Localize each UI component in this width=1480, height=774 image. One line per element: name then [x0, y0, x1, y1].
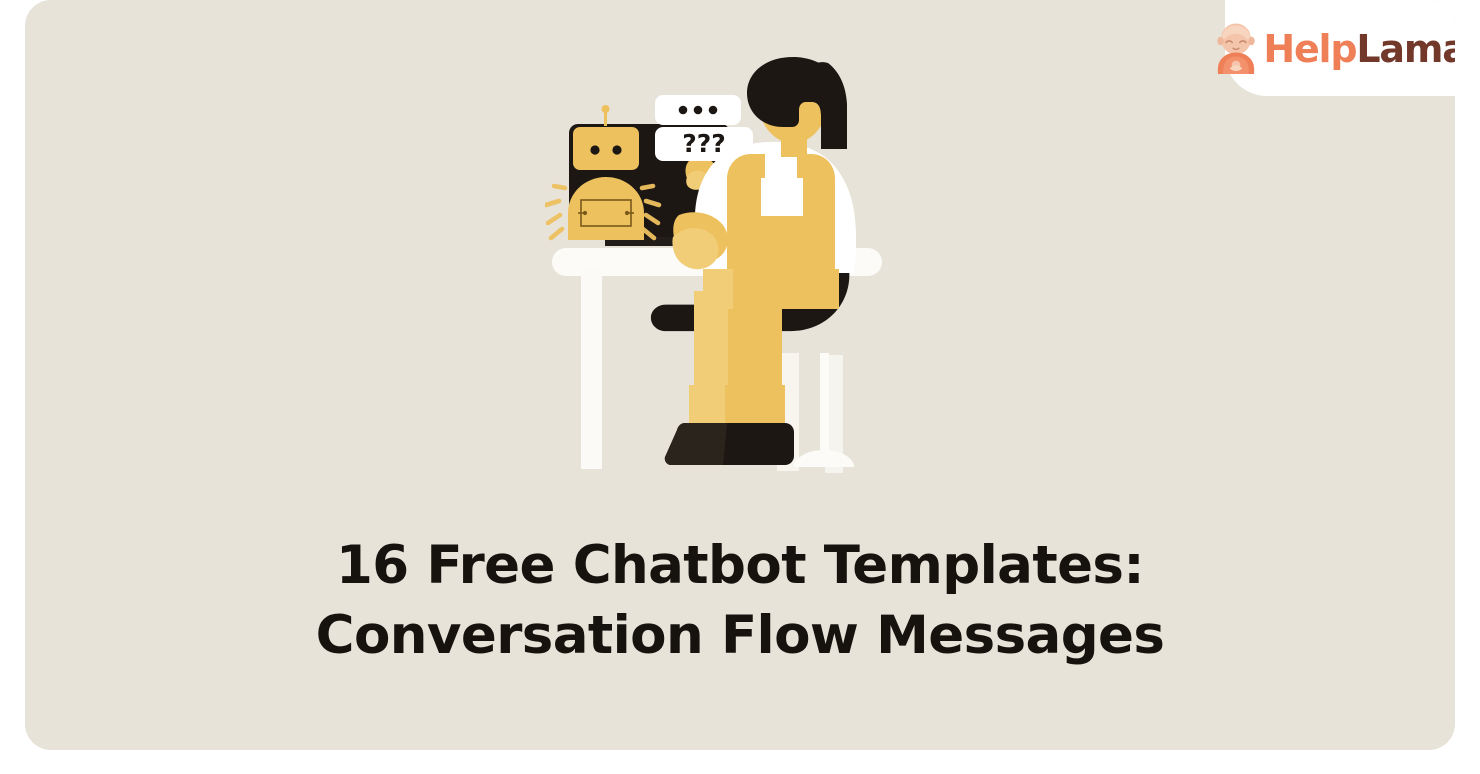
page-root: HelpLama: [0, 0, 1480, 774]
typing-bubble: [655, 95, 741, 125]
helplama-monk-logo-icon: [1213, 23, 1259, 75]
brand-logo-badge[interactable]: HelpLama: [1225, 0, 1455, 96]
page-title: 16 Free Chatbot Templates: Conversation …: [165, 531, 1315, 672]
brand-wordmark: HelpLama: [1263, 30, 1455, 68]
hero-illustration: ???: [545, 55, 995, 480]
brand-wordmark-lama: Lama: [1356, 27, 1455, 71]
question-bubble-text: ???: [682, 129, 726, 158]
article-hero-card: HelpLama: [25, 0, 1455, 750]
brand-wordmark-help: Help: [1263, 27, 1356, 71]
